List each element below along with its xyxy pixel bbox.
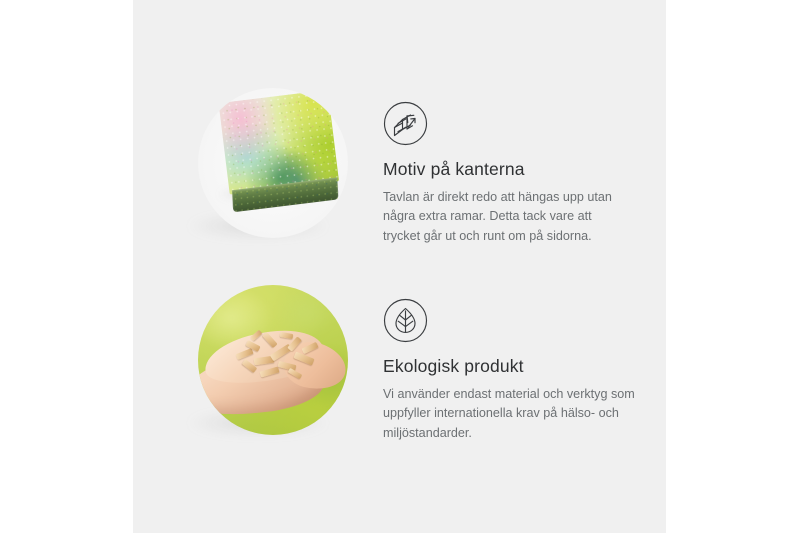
wood-chips-in-hands-photo [198, 285, 348, 435]
canvas-block [219, 90, 344, 215]
feature-description-1-line-1: Tavlan är direkt redo att hängas upp uta… [383, 188, 663, 208]
feature-description-2: Vi använder endast material och verktyg … [383, 385, 663, 444]
feature-description-2-line-2: uppfyller internationella krav på hälso-… [383, 404, 663, 424]
feature-text-2: Ekologisk produkt Vi använder endast mat… [383, 298, 663, 443]
feature-description-1-line-3: trycket går ut och runt om på sidorna. [383, 227, 663, 247]
feature-description-1-line-2: några extra ramar. Detta tack vare att [383, 207, 663, 227]
canvas-corner-photo [198, 88, 348, 238]
feature-description-2-line-3: miljöstandarder. [383, 424, 663, 444]
feature-title-1: Motiv på kanterna [383, 159, 663, 181]
feature-description-1: Tavlan är direkt redo att hängas upp uta… [383, 188, 663, 247]
feature-title-2: Ekologisk produkt [383, 356, 663, 378]
feature-text-1: Motiv på kanterna Tavlan är direkt redo … [383, 101, 663, 246]
wood-chips-pile [232, 331, 324, 385]
feature-block-ekologisk-produkt: Ekologisk produkt Vi använder endast mat… [133, 260, 666, 460]
product-feature-infographic: Motiv på kanterna Tavlan är direkt redo … [0, 0, 800, 533]
feature-block-motiv-pa-kanterna: Motiv på kanterna Tavlan är direkt redo … [133, 63, 666, 263]
wrapped-canvas-edge-icon [383, 101, 428, 146]
feature-description-2-line-1: Vi använder endast material och verktyg … [383, 385, 663, 405]
leaf-icon [383, 298, 428, 343]
